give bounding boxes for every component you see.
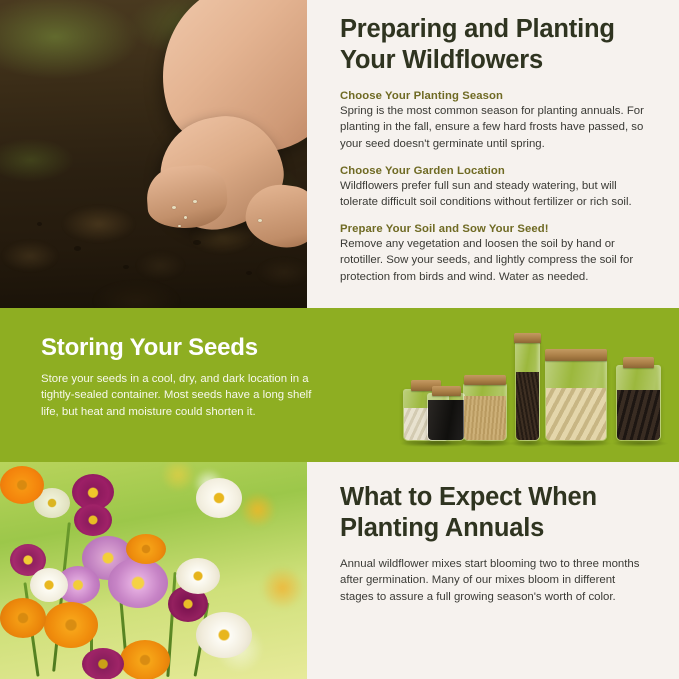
section-what-to-expect: What to Expect When Planting Annuals Ann… (0, 462, 679, 679)
cork-stopper (623, 357, 654, 368)
soil-speck (37, 222, 42, 226)
subhead-planting-season: Choose Your Planting Season (340, 90, 655, 102)
block-planting-season: Choose Your Planting Season Spring is th… (340, 90, 655, 152)
what-to-expect-title: What to Expect When Planting Annuals (340, 482, 651, 544)
subhead-garden-location: Choose Your Garden Location (340, 165, 655, 177)
flower-white (30, 568, 68, 602)
jar-contents (428, 400, 464, 440)
seed (178, 225, 181, 227)
jar-contents (617, 390, 660, 440)
seed-storage-jars-photo (385, 326, 670, 451)
section-preparing-planting-copy: Preparing and Planting Your Wildflowers … (307, 0, 679, 308)
storing-seeds-body: Store your seeds in a cool, dry, and dar… (41, 371, 331, 421)
section-storing-seeds-copy: Storing Your Seeds Store your seeds in a… (41, 334, 331, 420)
jar-sunflower-seeds (616, 365, 661, 441)
flower-magenta (82, 648, 124, 679)
cork-stopper (545, 349, 607, 361)
body-garden-location: Wildflowers prefer full sun and steady w… (340, 178, 655, 210)
section-storing-seeds: Storing Your Seeds Store your seeds in a… (0, 308, 679, 462)
flower-magenta (74, 504, 112, 536)
cork-stopper (514, 333, 541, 343)
jar-contents (516, 372, 539, 440)
body-prepare-soil: Remove any vegetation and loosen the soi… (340, 236, 655, 285)
section-what-to-expect-copy: What to Expect When Planting Annuals Ann… (307, 462, 679, 679)
jar-pumpkin-seeds (545, 359, 607, 441)
flower-orange (120, 640, 170, 679)
jar-shadow (541, 440, 613, 447)
block-prepare-soil: Prepare Your Soil and Sow Your Seed! Rem… (340, 223, 655, 285)
jar-shadow (611, 440, 669, 447)
subhead-prepare-soil: Prepare Your Soil and Sow Your Seed! (340, 223, 655, 235)
seed (184, 216, 187, 219)
flower-orange (44, 602, 98, 648)
infographic-page: Preparing and Planting Your Wildflowers … (0, 0, 679, 679)
soil-speck (246, 271, 252, 275)
jar-contents (464, 396, 506, 440)
what-to-expect-body: Annual wildflower mixes start blooming t… (340, 556, 651, 605)
soil-speck (123, 265, 129, 269)
page-title: Preparing and Planting Your Wildflowers (340, 14, 655, 76)
flower-orange (0, 598, 46, 638)
jar-shadow (458, 440, 514, 447)
jar-contents (546, 388, 606, 440)
jar-tan-grain (463, 383, 507, 441)
flower-white (176, 558, 220, 594)
storing-seeds-title: Storing Your Seeds (41, 334, 331, 362)
block-garden-location: Choose Your Garden Location Wildflowers … (340, 165, 655, 210)
flower-white (196, 612, 252, 658)
section-preparing-planting: Preparing and Planting Your Wildflowers … (0, 0, 679, 308)
flower-orange (0, 466, 44, 504)
body-planting-season: Spring is the most common season for pla… (340, 103, 655, 152)
flower-white (196, 478, 242, 518)
jar-tall-dark-seeds (515, 341, 540, 441)
flower-orange (126, 534, 166, 564)
hand-sowing-seeds-in-soil-photo (0, 0, 307, 308)
cosmos-wildflower-bouquet-photo (0, 462, 307, 679)
cork-stopper (432, 386, 461, 396)
flower-pink (108, 558, 168, 608)
jar-black-seeds (427, 393, 465, 441)
seed (258, 219, 262, 222)
cork-stopper (464, 375, 506, 385)
